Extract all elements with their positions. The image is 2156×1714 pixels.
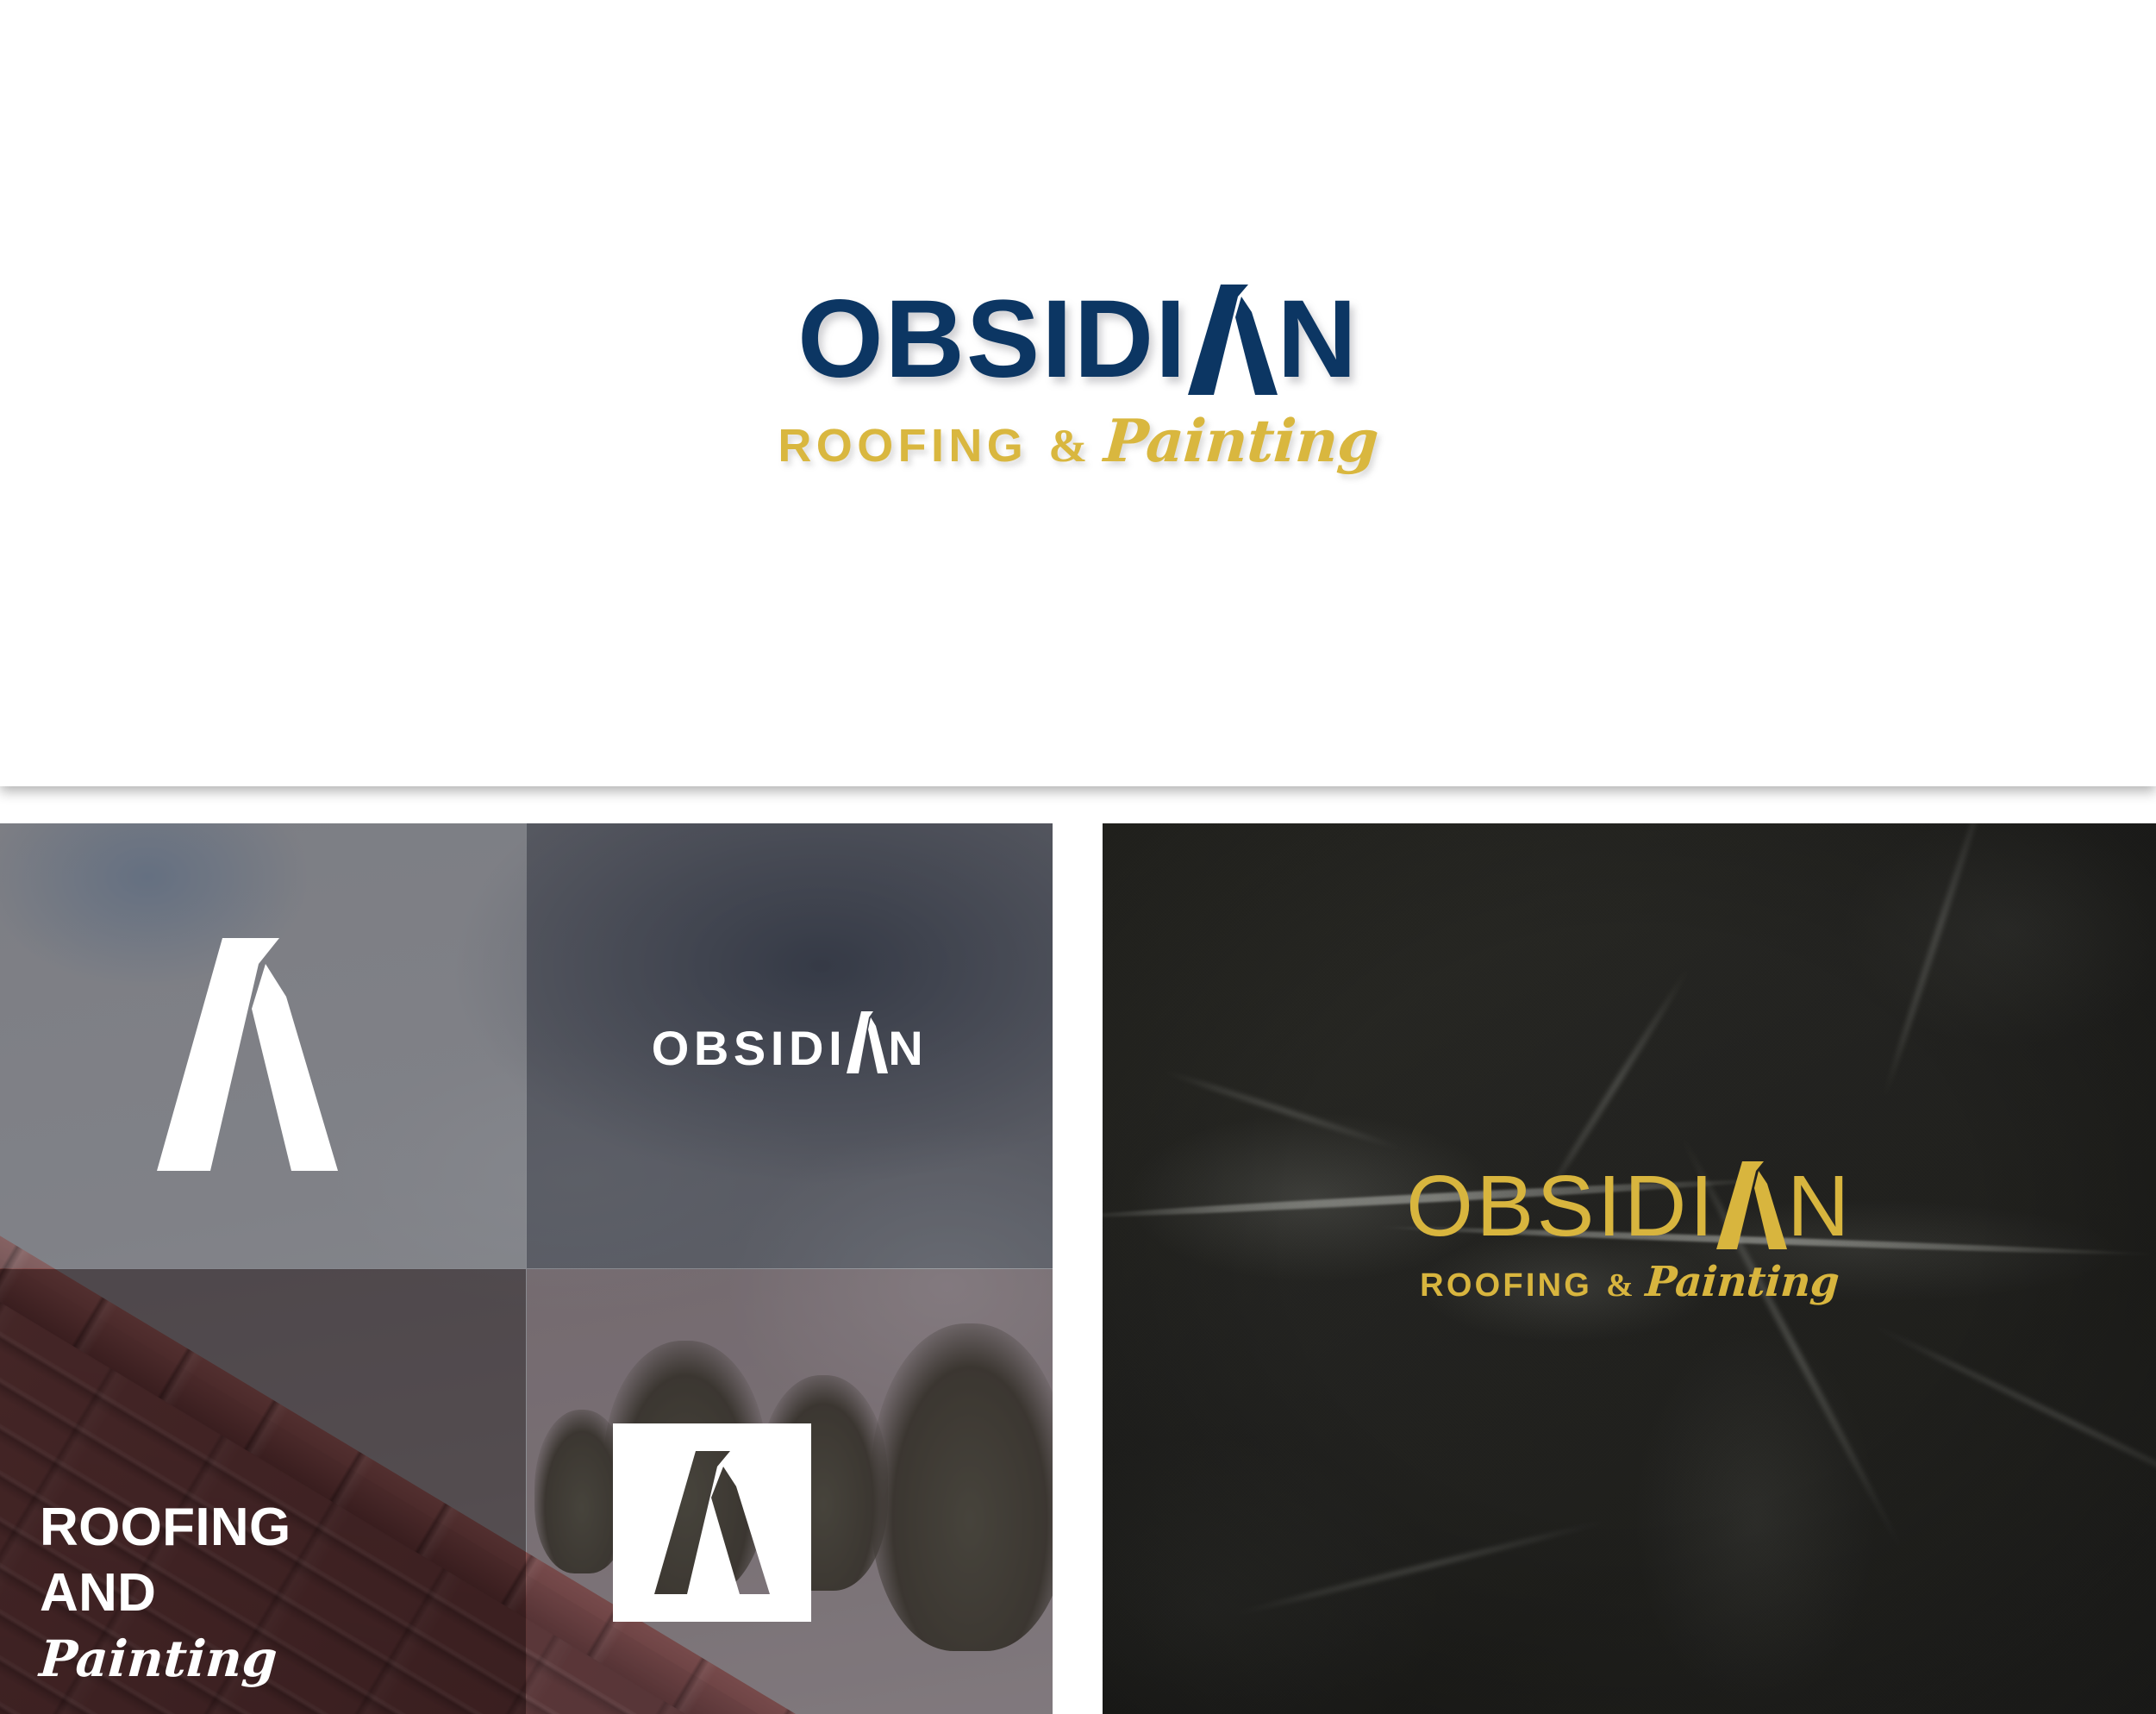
- wordmark-white: OBSIDI N: [527, 1011, 1053, 1073]
- wordmark-text-before: OBSIDI: [797, 285, 1187, 395]
- wordmark-text-after: N: [1278, 285, 1359, 395]
- primary-wordmark: OBSIDI N: [797, 285, 1359, 395]
- tagline-line-and: AND: [40, 1561, 291, 1626]
- tagline-ampersand: &: [1048, 419, 1087, 472]
- wordmark-text-before: OBSIDI: [1406, 1163, 1716, 1249]
- tagline-line-painting-script: Painting: [37, 1628, 278, 1691]
- tagline-painting-script: Painting: [1102, 407, 1380, 476]
- tagline-line-roofing: ROOFING: [40, 1495, 291, 1561]
- wordmark-text-after: N: [888, 1024, 928, 1073]
- wordmark-text-after: N: [1787, 1163, 1853, 1249]
- gold-wordmark: OBSIDI N: [1406, 1161, 1853, 1249]
- tagline-painting-script: Painting: [1644, 1258, 1840, 1306]
- logo-a-mark-icon: [1716, 1161, 1787, 1249]
- tagline-block: ROOFING AND Painting: [40, 1495, 291, 1690]
- marble-mockup-panel: OBSIDI N ROOFING & Painting: [1103, 823, 2156, 1714]
- logo-a-mark-icon: [1188, 285, 1278, 395]
- tagline-roofing: ROOFING: [778, 419, 1028, 472]
- logo-knockout-box: [613, 1423, 811, 1622]
- logo-application-row: OBSIDI N ROOFING AND Painting: [0, 823, 2156, 1714]
- gold-logo-lockup: OBSIDI N ROOFING & Painting: [1103, 1161, 2156, 1306]
- logo-a-mark-icon: [847, 1011, 888, 1073]
- primary-tagline: ROOFING & Painting: [0, 407, 2156, 476]
- tagline-ampersand: &: [1606, 1267, 1634, 1304]
- logo-a-mark-icon: [157, 938, 338, 1171]
- primary-logo-board: OBSIDI N ROOFING & Painting: [0, 0, 2156, 786]
- quadrant-bottom-left: ROOFING AND Painting: [0, 1269, 526, 1714]
- wordmark-text-before: OBSIDI: [652, 1024, 847, 1073]
- quadrant-bottom-right: [527, 1269, 1053, 1714]
- quadrant-top-left: [0, 823, 526, 1268]
- primary-logo-lockup: OBSIDI N ROOFING & Painting: [0, 285, 2156, 476]
- gold-tagline: ROOFING & Painting: [1103, 1258, 2156, 1306]
- quadrant-top-right: OBSIDI N: [527, 823, 1053, 1268]
- tagline-roofing: ROOFING: [1420, 1267, 1592, 1304]
- photo-mockup-panel: OBSIDI N ROOFING AND Painting: [0, 823, 1053, 1714]
